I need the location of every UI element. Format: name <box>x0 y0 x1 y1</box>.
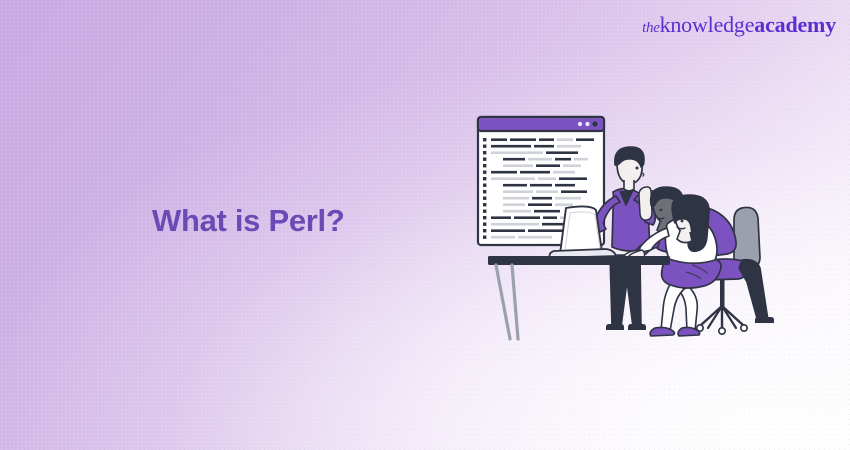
logo-word-the: the <box>642 20 659 36</box>
banner-root: theknowledgeacademy What is Perl? <box>0 0 850 450</box>
window-dot-2 <box>585 122 589 126</box>
logo-word-knowledge: knowledge <box>660 12 755 37</box>
illustration-svg <box>470 95 850 355</box>
site-logo[interactable]: theknowledgeacademy <box>642 14 836 36</box>
page-title: What is Perl? <box>152 203 344 239</box>
logo-word-academy: academy <box>754 12 836 37</box>
window-dot-3 <box>592 121 597 126</box>
team-coding-illustration <box>470 95 850 355</box>
window-dot-1 <box>578 122 582 126</box>
